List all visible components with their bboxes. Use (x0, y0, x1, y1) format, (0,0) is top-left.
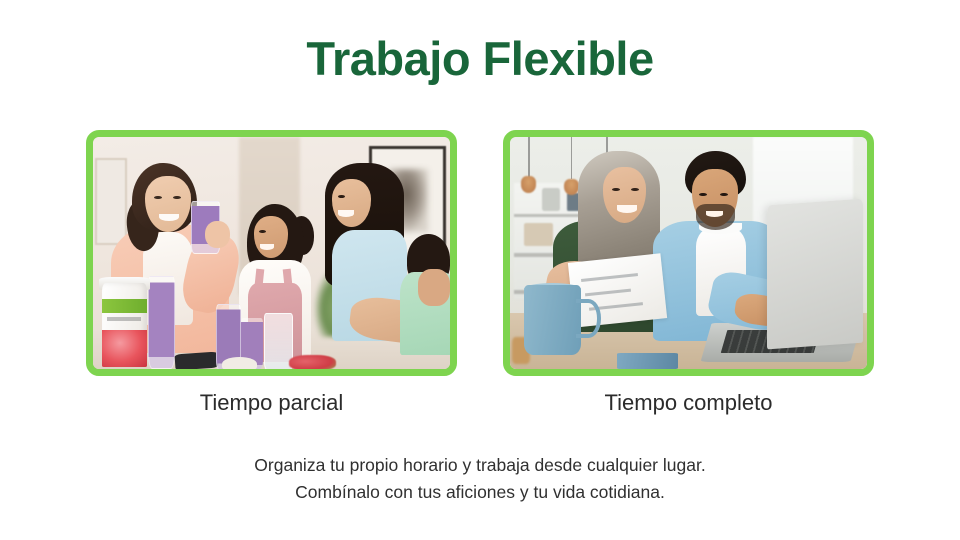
man-smile (706, 211, 722, 217)
bowl-on-counter (222, 357, 258, 369)
body-line-2: Combínalo con tus aficiones y tu vida co… (0, 479, 960, 506)
pendant-lamp-cord-2 (571, 137, 573, 179)
fruit-on-counter (289, 355, 335, 369)
photo-card-tiempo-parcial[interactable] (86, 130, 457, 376)
mug-handle (576, 299, 601, 337)
woman-smile (617, 205, 637, 212)
caption-tiempo-parcial: Tiempo parcial (86, 390, 457, 416)
smartphone-on-counter (175, 351, 219, 369)
laptop-screen (767, 199, 863, 350)
family-kitchen-photo (93, 137, 450, 369)
pendant-lamp-cord-1 (528, 137, 530, 179)
man-eye-right (720, 193, 728, 196)
pendant-lamp-bulb-1 (521, 176, 535, 192)
nutrition-container-berry-art (102, 330, 147, 367)
caption-row: Tiempo parcial Tiempo completo (0, 390, 960, 422)
couple-laptop-photo (510, 137, 867, 369)
mother-hand (205, 221, 230, 249)
caption-tiempo-completo: Tiempo completo (503, 390, 874, 416)
page-title: Trabajo Flexible (0, 34, 960, 83)
pendant-lamp-bulb-2 (564, 179, 578, 195)
nutrition-container-green-band (102, 299, 147, 313)
shelf-object-3 (524, 223, 553, 246)
body-paragraph: Organiza tu propio horario y trabaja des… (0, 452, 960, 506)
man-beard (696, 204, 735, 230)
girl-face (254, 216, 288, 258)
card-on-desk (617, 353, 678, 369)
nutrition-container-label-text (107, 317, 141, 321)
body-line-1: Organiza tu propio horario y trabaja des… (0, 452, 960, 479)
man-eye-left (699, 193, 707, 196)
wall-frame-left (95, 158, 128, 246)
shelf-object-1 (542, 188, 560, 211)
teen-girl-smile (338, 210, 354, 216)
girl-eye (259, 230, 266, 233)
blue-mug (524, 285, 581, 355)
smoothie-glass-1 (148, 276, 175, 368)
photo-card-row (0, 130, 960, 380)
teen-girl-eye (338, 195, 345, 198)
young-child-arm (418, 269, 450, 306)
photo-card-tiempo-completo[interactable] (503, 130, 874, 376)
slide-root: Trabajo Flexible (0, 0, 960, 540)
girl-smile (260, 244, 274, 250)
